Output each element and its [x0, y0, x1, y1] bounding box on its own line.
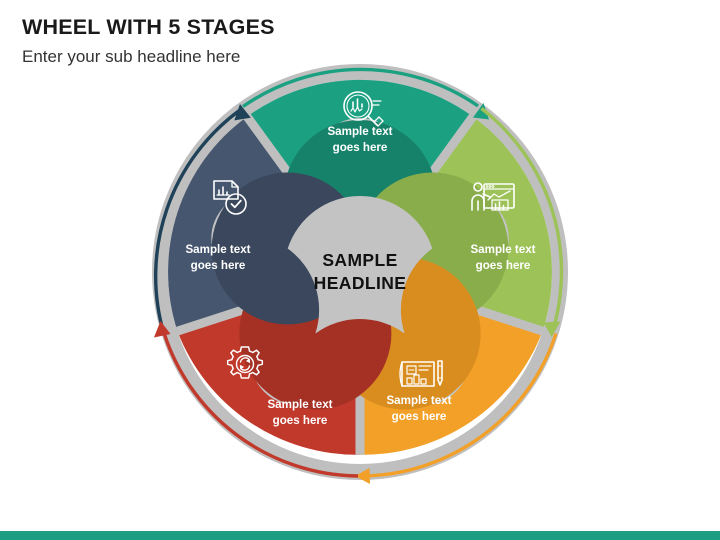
- hub-title-line1: SAMPLE: [322, 250, 397, 270]
- stage-1-label-line2: goes here: [333, 141, 388, 154]
- stage-2-label-line1: Sample text: [470, 243, 535, 256]
- hub-title-line2: HEADLINE: [314, 273, 407, 293]
- footer-accent-bar: [0, 531, 720, 540]
- wheel-diagram: Sample text goes here Sample text goes h…: [0, 0, 720, 540]
- stage-1-label-line1: Sample text: [327, 125, 392, 138]
- stage-5-label-line1: Sample text: [185, 243, 250, 256]
- stage-4-label-line1: Sample text: [267, 398, 332, 411]
- slide-canvas: WHEEL WITH 5 STAGES Enter your sub headl…: [0, 0, 720, 540]
- stage-5-label-line2: goes here: [191, 259, 246, 272]
- stage-4-label-line2: goes here: [273, 414, 328, 427]
- stage-3-label-line1: Sample text: [386, 394, 451, 407]
- stage-2-label-line2: goes here: [476, 259, 531, 272]
- stage-3-label-line2: goes here: [392, 410, 447, 423]
